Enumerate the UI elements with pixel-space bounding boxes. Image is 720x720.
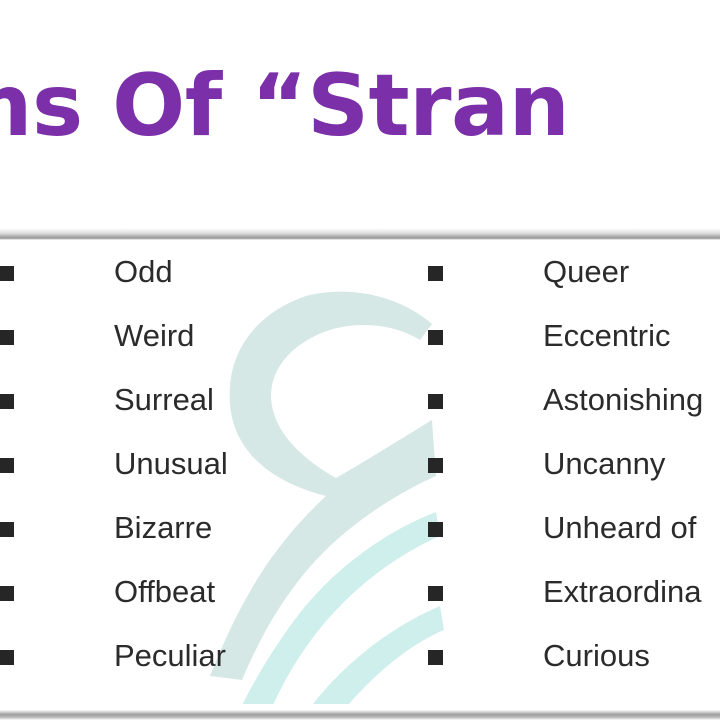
list-item-label: Eccentric — [543, 316, 670, 356]
title-area: onyms Of “Stran — [0, 0, 720, 228]
list-item[interactable]: Extraordina — [428, 560, 720, 624]
list-item-label: Queer — [543, 252, 629, 292]
square-bullet-icon — [428, 330, 443, 345]
square-bullet-icon — [0, 458, 14, 473]
square-bullet-icon — [428, 266, 443, 281]
square-bullet-icon — [428, 522, 443, 537]
list-item-label: Bizarre — [114, 508, 212, 548]
list-item[interactable]: Uncanny — [428, 432, 720, 496]
list-item-label: Unusual — [114, 444, 228, 484]
square-bullet-icon — [0, 266, 14, 281]
list-item[interactable]: Curious — [428, 624, 720, 688]
bullet-columns: Odd Weird Surreal Unusual Bizarre — [0, 240, 720, 706]
content-panel: Odd Weird Surreal Unusual Bizarre — [0, 228, 720, 720]
list-item-label: Surreal — [114, 380, 214, 420]
square-bullet-icon — [0, 330, 14, 345]
square-bullet-icon — [428, 586, 443, 601]
list-item[interactable]: Offbeat — [0, 560, 420, 624]
square-bullet-icon — [428, 394, 443, 409]
list-item[interactable]: Eccentric — [428, 304, 720, 368]
list-item[interactable]: Queer — [428, 240, 720, 304]
square-bullet-icon — [0, 522, 14, 537]
square-bullet-icon — [428, 650, 443, 665]
list-item-label: Weird — [114, 316, 194, 356]
panel-bottom-divider — [0, 706, 720, 720]
list-item[interactable]: Unheard of — [428, 496, 720, 560]
square-bullet-icon — [428, 458, 443, 473]
list-item[interactable]: Peculiar — [0, 624, 420, 688]
page-title: onyms Of “Stran — [0, 63, 720, 149]
left-column: Odd Weird Surreal Unusual Bizarre — [0, 240, 420, 706]
slide-canvas: onyms Of “Stran Odd — [0, 0, 720, 720]
list-item[interactable]: Weird — [0, 304, 420, 368]
square-bullet-icon — [0, 586, 14, 601]
list-item[interactable]: Odd — [0, 240, 420, 304]
list-item-label: Odd — [114, 252, 173, 292]
list-item-label: Unheard of — [543, 508, 696, 548]
list-item-label: Uncanny — [543, 444, 665, 484]
list-item[interactable]: Astonishing — [428, 368, 720, 432]
right-column: Queer Eccentric Astonishing Uncanny Unhe — [428, 240, 720, 706]
list-item-label: Offbeat — [114, 572, 215, 612]
panel-top-divider — [0, 228, 720, 240]
square-bullet-icon — [0, 650, 14, 665]
list-item-label: Astonishing — [543, 380, 703, 420]
list-item-label: Extraordina — [543, 572, 702, 612]
list-item-label: Curious — [543, 636, 650, 676]
list-item[interactable]: Bizarre — [0, 496, 420, 560]
square-bullet-icon — [0, 394, 14, 409]
list-item[interactable]: Unusual — [0, 432, 420, 496]
list-item[interactable]: Surreal — [0, 368, 420, 432]
list-item-label: Peculiar — [114, 636, 226, 676]
